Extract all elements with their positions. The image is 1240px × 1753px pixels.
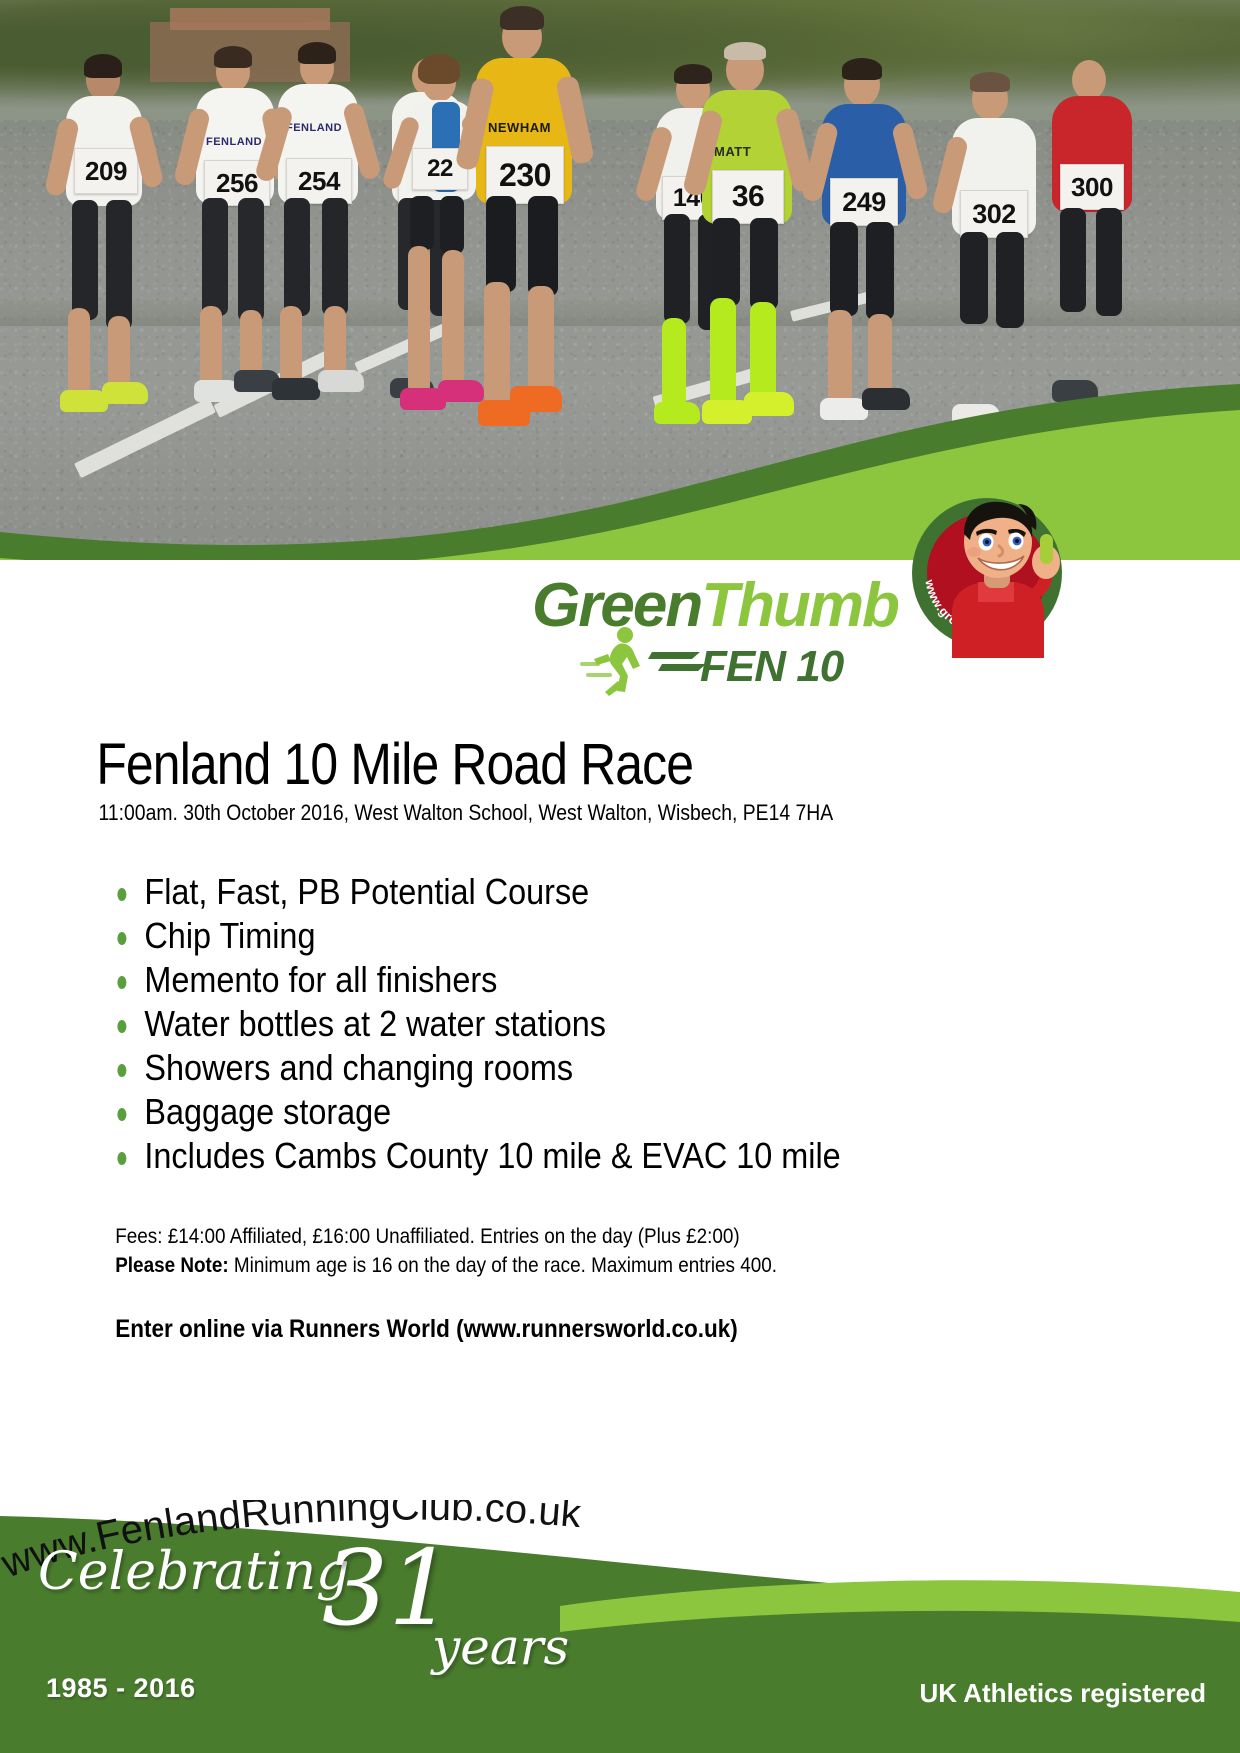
poster-content: Fenland 10 Mile Road Race 11:00am. 30th …: [0, 735, 1240, 1344]
years-range: 1985 - 2016: [46, 1673, 196, 1704]
brand-thumb-text: Thumb: [701, 571, 898, 640]
list-item: Water bottles at 2 water stations: [112, 1002, 1127, 1046]
please-note-label: Please Note:: [115, 1254, 228, 1277]
mascot-icon: [918, 490, 1068, 660]
page-title: Fenland 10 Mile Road Race: [0, 735, 1066, 794]
race-bib: 302: [960, 190, 1028, 238]
race-photo: 209 FENLAND 256 FENLAND 254: [0, 0, 1240, 560]
fen10-mark: FEN 10: [700, 642, 843, 692]
vest-club-name: FENLAND: [286, 122, 342, 134]
list-item: Chip Timing: [112, 914, 1127, 958]
vest-club-name: NEWHAM: [488, 120, 551, 135]
fees-line: Fees: £14:00 Affiliated, £16:00 Unaffili…: [115, 1222, 1116, 1252]
celebrating-text: Celebrating: [38, 1542, 349, 1602]
list-item: Showers and changing rooms: [112, 1046, 1127, 1090]
speed-lines-icon: [648, 646, 708, 690]
please-note-text: Minimum age is 16 on the day of the race…: [229, 1254, 777, 1277]
race-bib: 209: [74, 148, 138, 194]
fees-block: Fees: £14:00 Affiliated, £16:00 Unaffili…: [0, 1222, 1116, 1282]
running-man-icon: [578, 626, 654, 696]
poster-footer: www.FenlandRunningClub.co.uk Celebrating…: [0, 1500, 1240, 1753]
list-item: Baggage storage: [112, 1090, 1127, 1134]
please-note-line: Please Note: Minimum age is 16 on the da…: [115, 1251, 1116, 1281]
greenthumb-badge: www.greenthumb.co.uk: [912, 498, 1062, 648]
uk-athletics-registered: UK Athletics registered: [919, 1678, 1206, 1709]
vest-club-name: FENLAND: [206, 136, 262, 148]
years-label: years: [432, 1618, 569, 1676]
greenthumb-logo: GreenThumb FEN 10 www.greent: [520, 560, 1120, 730]
list-item: Flat, Fast, PB Potential Course: [112, 870, 1127, 914]
list-item: Includes Cambs County 10 mile & EVAC 10 …: [112, 1134, 1127, 1178]
features-list: Flat, Fast, PB Potential Course Chip Tim…: [0, 870, 1240, 1177]
event-details-line: 11:00am. 30th October 2016, West Walton …: [0, 800, 1091, 826]
road-kerb: [0, 300, 1240, 326]
vest-club-name: MATT: [714, 144, 751, 159]
race-bib: 300: [1060, 164, 1124, 210]
house-roof: [170, 8, 330, 30]
race-bib: 249: [830, 178, 898, 226]
list-item: Memento for all finishers: [112, 958, 1127, 1002]
race-bib: 36: [712, 170, 784, 224]
enter-online-line[interactable]: Enter online via Runners World (www.runn…: [0, 1315, 1116, 1344]
